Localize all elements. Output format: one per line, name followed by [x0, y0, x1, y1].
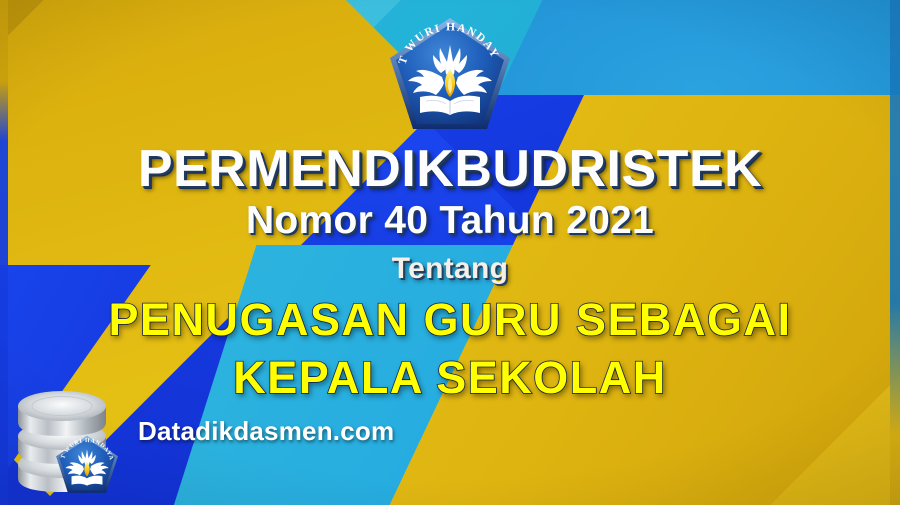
poster-headline: PERMENDIKBUDRISTEK: [0, 139, 900, 199]
watermark-site-name: Datadikdasmen.com: [138, 416, 394, 447]
poster-canvas: TUT WURI HANDAYANI: [0, 0, 900, 505]
poster-subject-line-1: PENUGASAN GURU SEBAGAI: [0, 294, 900, 346]
tut-wuri-handayani-logo-svg: TUT WURI HANDAYANI: [386, 15, 514, 135]
poster-regulation-number: Nomor 40 Tahun 2021: [0, 199, 900, 243]
watermark-ministry-emblem-icon: TUT WURI HANDAYANI: [54, 434, 120, 496]
ministry-emblem-icon: TUT WURI HANDAYANI: [386, 15, 514, 135]
site-watermark: TUT WURI HANDAYANI: [10, 380, 394, 500]
poster-about-label: Tentang: [0, 252, 900, 286]
database-icon: TUT WURI HANDAYANI: [10, 380, 114, 500]
watermark-logo-svg: TUT WURI HANDAYANI: [54, 434, 120, 496]
